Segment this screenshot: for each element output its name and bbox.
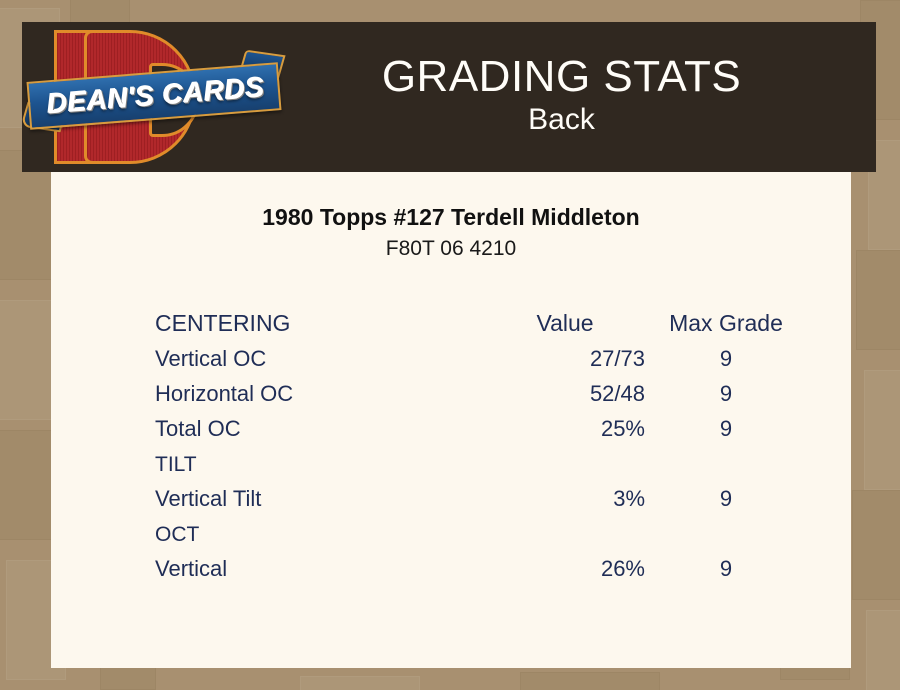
section-grade-spacer: [645, 512, 807, 547]
section-header-row: TILT: [155, 442, 807, 477]
section-value-spacer: [485, 512, 645, 547]
stat-value: 52/48: [485, 372, 645, 407]
table-row: Vertical OC27/739: [155, 337, 807, 372]
table-row: Vertical Tilt3%9: [155, 477, 807, 512]
page-subtitle: Back: [287, 100, 836, 141]
texture-blot: [520, 672, 660, 690]
texture-blot: [866, 610, 900, 690]
texture-blot: [864, 370, 900, 490]
card-title: 1980 Topps #127 Terdell Middleton: [51, 204, 851, 231]
section-value-spacer: [485, 442, 645, 477]
stat-name: Total OC: [155, 407, 485, 442]
stat-value: 25%: [485, 407, 645, 442]
stat-name: Vertical OC: [155, 337, 485, 372]
section-label: OCT: [155, 512, 485, 547]
section-header-row: OCT: [155, 512, 807, 547]
column-header-max-grade: Max Grade: [645, 301, 807, 337]
stat-max-grade: 9: [645, 372, 807, 407]
section-grade-spacer: [645, 442, 807, 477]
stat-max-grade: 9: [645, 547, 807, 582]
table-row: Total OC25%9: [155, 407, 807, 442]
texture-blot: [856, 250, 900, 350]
table-row: Horizontal OC52/489: [155, 372, 807, 407]
card-code: F80T 06 4210: [51, 237, 851, 261]
texture-blot: [300, 676, 420, 690]
stat-name: Vertical Tilt: [155, 477, 485, 512]
stat-value: 3%: [485, 477, 645, 512]
texture-blot: [0, 300, 56, 420]
column-header-centering: CENTERING: [155, 301, 485, 337]
header-titles: GRADING STATS Back: [287, 54, 876, 141]
deans-cards-logo: DEAN'S CARDS: [22, 22, 287, 172]
stat-value: 27/73: [485, 337, 645, 372]
table-body: Vertical OC27/739Horizontal OC52/489Tota…: [155, 337, 807, 582]
stat-max-grade: 9: [645, 477, 807, 512]
stat-max-grade: 9: [645, 407, 807, 442]
grading-stats-table: CENTERING Value Max Grade Vertical OC27/…: [155, 301, 807, 582]
content-panel: 1980 Topps #127 Terdell Middleton F80T 0…: [51, 172, 851, 668]
stat-name: Vertical: [155, 547, 485, 582]
page-title: GRADING STATS: [287, 54, 836, 100]
table-row: Vertical26%9: [155, 547, 807, 582]
page-header: DEAN'S CARDS GRADING STATS Back: [22, 22, 876, 172]
stat-max-grade: 9: [645, 337, 807, 372]
column-header-value: Value: [485, 301, 645, 337]
table-header-row: CENTERING Value Max Grade: [155, 301, 807, 337]
texture-blot: [852, 490, 900, 600]
stat-name: Horizontal OC: [155, 372, 485, 407]
table-head: CENTERING Value Max Grade: [155, 301, 807, 337]
section-label: TILT: [155, 442, 485, 477]
stat-value: 26%: [485, 547, 645, 582]
